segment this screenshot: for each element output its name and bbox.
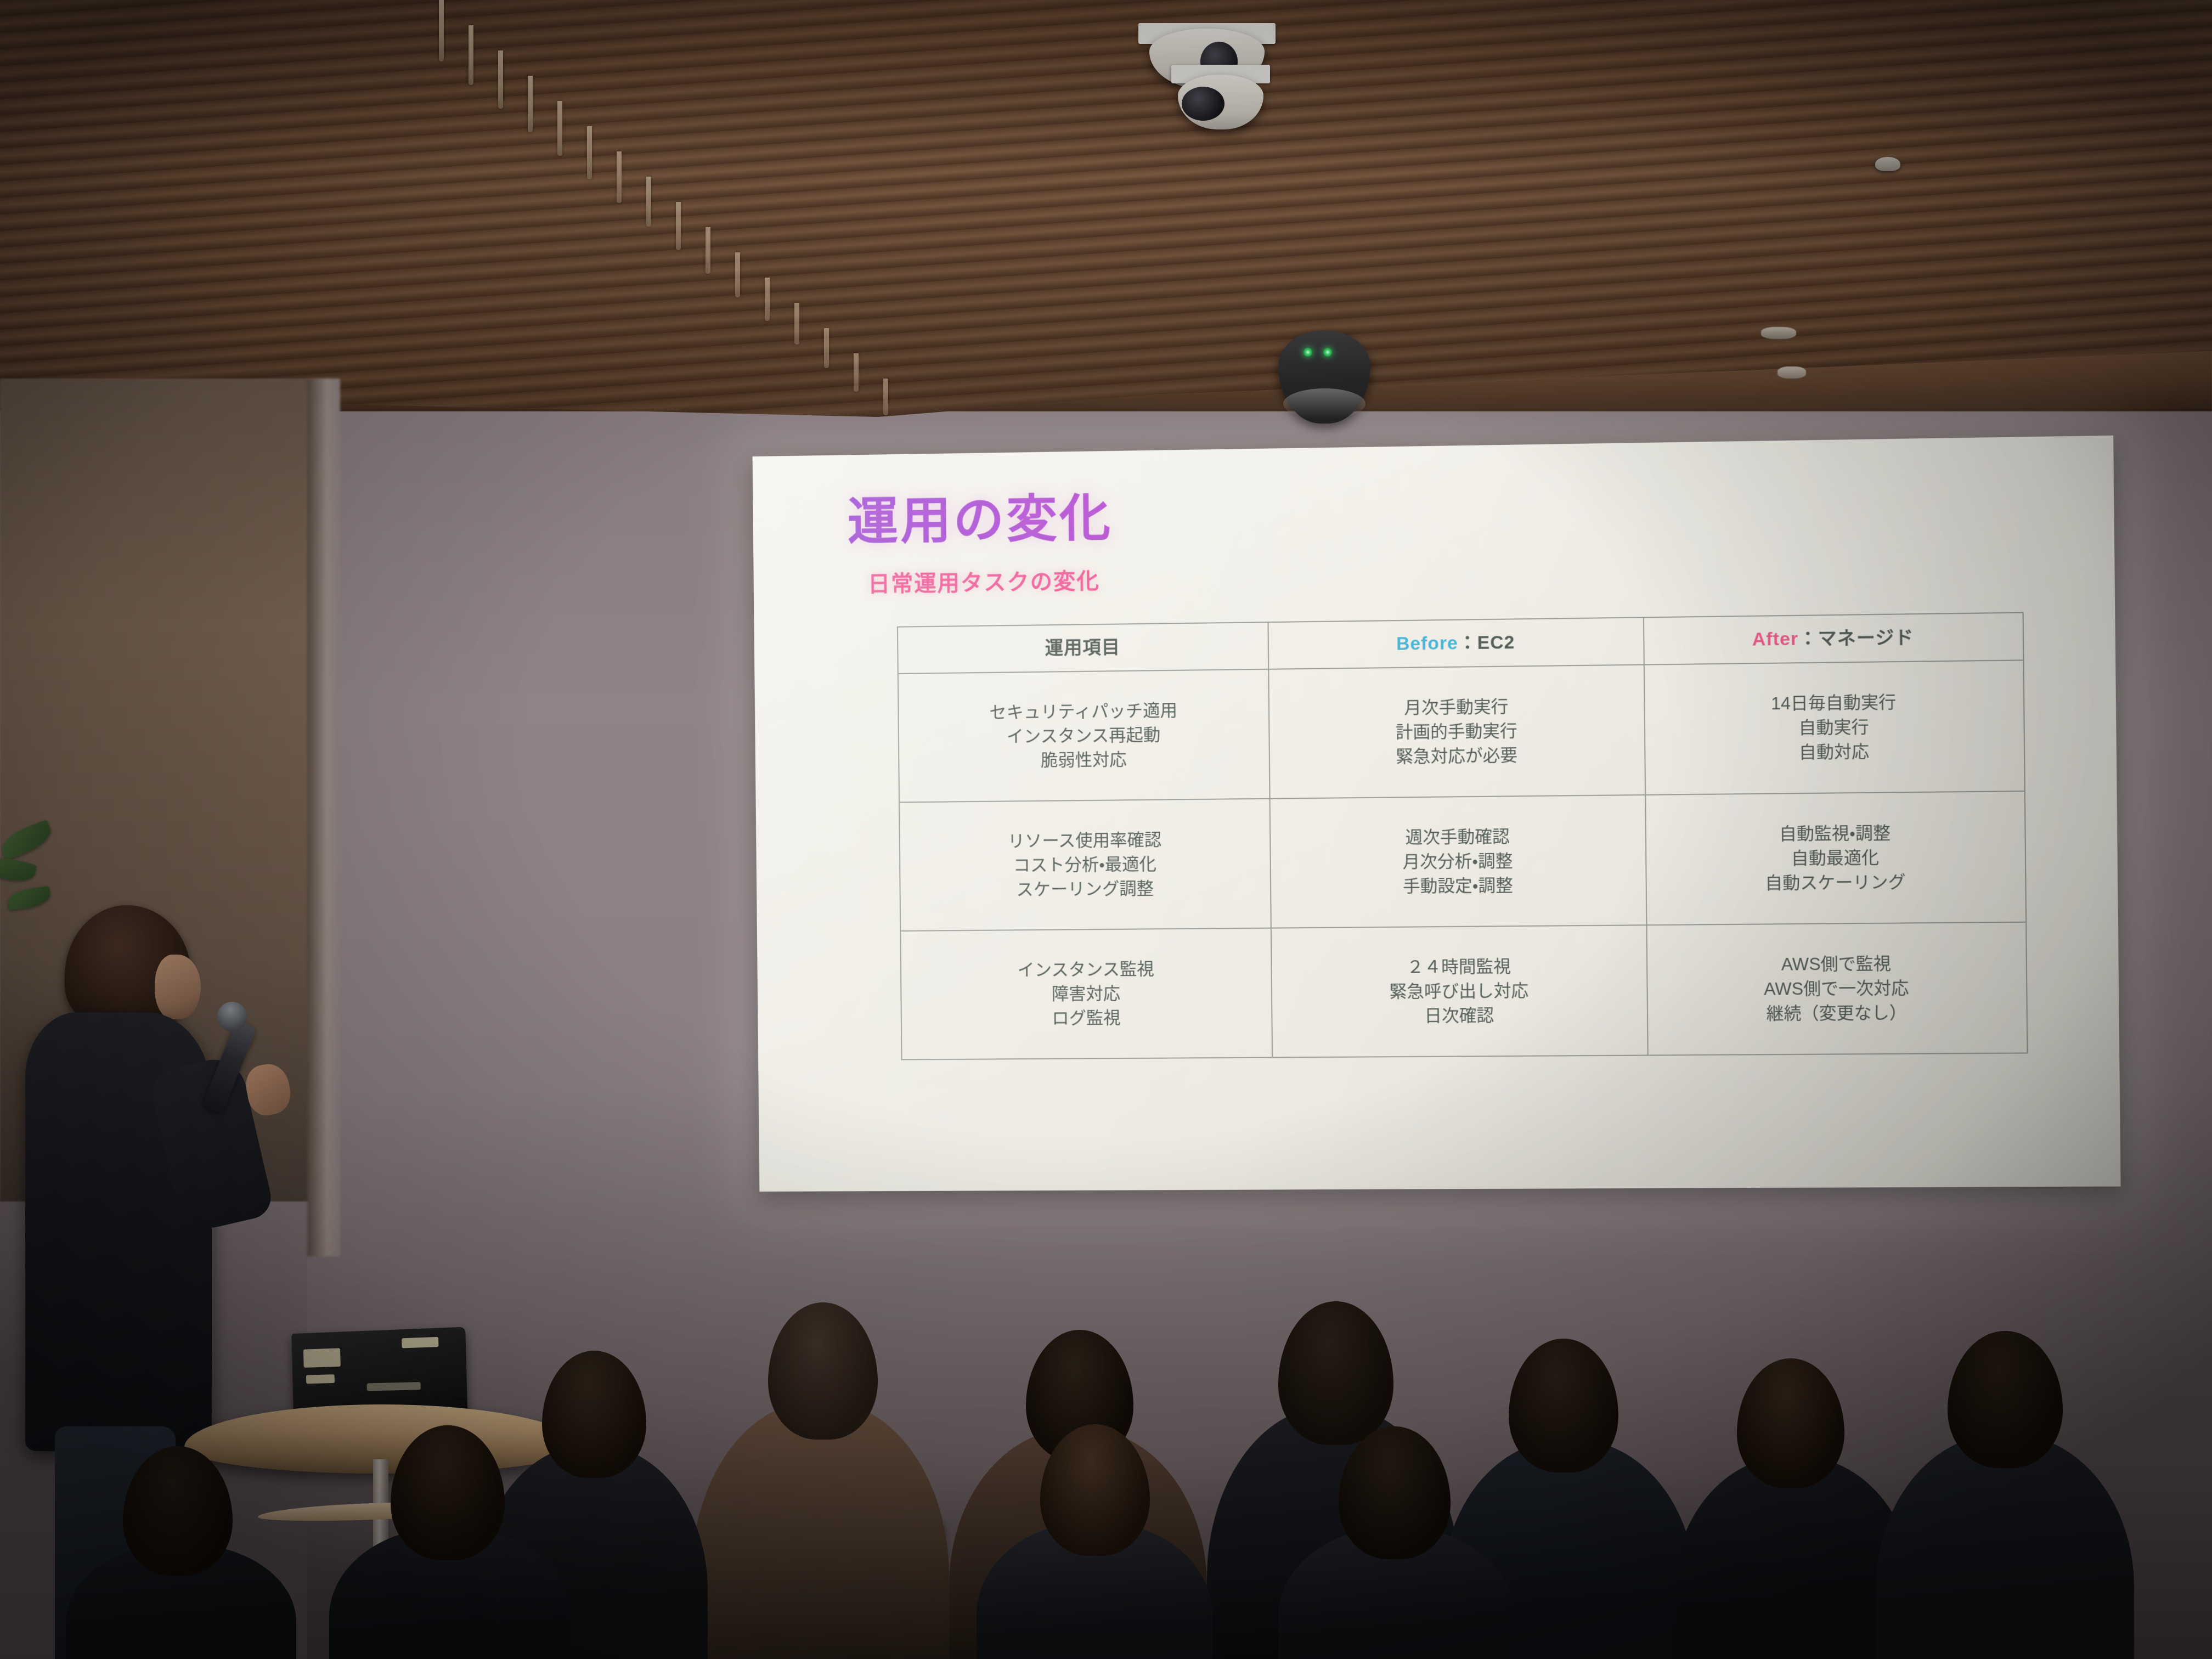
ceiling-speaker-icon — [1761, 327, 1796, 339]
table-cell-after: 自動監視・調整自動最適化自動スケーリング — [1645, 791, 2026, 925]
cell-line: 日次確認 — [1277, 1002, 1643, 1029]
before-accent-label: Before — [1396, 633, 1458, 654]
cell-line: 週次手動確認 — [1276, 823, 1641, 851]
cell-line: 継続（変更なし） — [1652, 1000, 2022, 1027]
cell-line: ログ監視 — [906, 1005, 1267, 1032]
cell-line: AWS側で監視 — [1652, 951, 2022, 978]
ceiling-slat-end — [646, 177, 651, 227]
before-separator: ： — [1458, 633, 1477, 653]
cell-line: セキュリティパッチ適用 — [903, 697, 1264, 726]
cell-line: インスタンス監視 — [906, 956, 1267, 983]
cell-line: 緊急呼び出し対応 — [1277, 978, 1642, 1005]
ceiling-slat-end — [765, 278, 770, 321]
ceiling-slat-end — [706, 227, 710, 274]
before-value-label: EC2 — [1477, 632, 1515, 653]
slide-subtitle: 日常運用タスクの変化 — [868, 550, 2060, 599]
projection-screen: 運用の変化 日常運用タスクの変化 運用項目 Before：EC2 After：マ… — [753, 436, 2121, 1192]
presenter-face — [155, 955, 201, 1019]
table-row: セキュリティパッチ適用インスタンス再起動脆弱性対応月次手動実行計画的手動実行緊急… — [898, 660, 2025, 802]
ceiling-speaker-icon-secondary — [1778, 366, 1806, 379]
table-cell-before: ２４時間監視緊急呼び出し対応日次確認 — [1271, 925, 1647, 1057]
table-header-item: 運用項目 — [898, 622, 1269, 674]
audience-member — [1876, 1264, 2134, 1659]
table-row: インスタンス監視障害対応ログ監視２４時間監視緊急呼び出し対応日次確認AWS側で監… — [900, 922, 2027, 1060]
ceiling-slat-end — [854, 353, 859, 392]
ceiling-slat-end — [587, 126, 592, 179]
cell-line: 緊急対応が必要 — [1274, 742, 1640, 771]
table-cell-after: AWS側で監視AWS側で一次対応継続（変更なし） — [1646, 922, 2027, 1056]
table-header-before: Before：EC2 — [1268, 618, 1644, 669]
cell-line: AWS側で一次対応 — [1652, 975, 2022, 1002]
cell-line: 自動実行 — [1650, 713, 2019, 742]
ceiling-sensor-icon — [1875, 157, 1900, 171]
ceiling-slat-end — [824, 328, 829, 368]
table-header-after: After：マネージド — [1644, 613, 2024, 665]
after-value-label: マネージド — [1818, 627, 1914, 649]
cell-line: コスト分析・最適化 — [905, 851, 1266, 879]
table-cell-before: 月次手動実行計画的手動実行緊急対応が必要 — [1269, 665, 1645, 799]
cell-line: 月次分析・調整 — [1276, 848, 1641, 875]
black-dome-camera — [1275, 327, 1374, 431]
after-accent-label: After — [1752, 628, 1798, 650]
potted-plant — [0, 806, 77, 971]
left-wall-corner — [307, 379, 340, 1256]
table-cell-after: 14日毎自動実行自動実行自動対応 — [1644, 660, 2024, 795]
cell-line: 14日毎自動実行 — [1649, 689, 2019, 717]
cell-line: 自動対応 — [1650, 738, 2019, 766]
ceiling-slat-end — [676, 202, 681, 250]
table-cell-item: セキュリティパッチ適用インスタンス再起動脆弱性対応 — [898, 669, 1270, 803]
audience-member — [691, 1176, 949, 1659]
ceiling-slat-end — [794, 303, 799, 345]
conference-room-photo: 運用の変化 日常運用タスクの変化 運用項目 Before：EC2 After：マ… — [0, 0, 2212, 1659]
table-cell-before: 週次手動確認月次分析・調整手動設定・調整 — [1270, 795, 1646, 928]
slide-title: 運用の変化 — [847, 477, 2059, 550]
cell-line: 自動スケーリング — [1651, 869, 2021, 897]
cell-line: 自動監視・調整 — [1651, 820, 2021, 848]
ceiling-slat-end — [735, 252, 740, 297]
after-separator: ： — [1798, 628, 1818, 649]
audience-member — [329, 1429, 571, 1659]
ceiling-slat-end — [883, 379, 888, 415]
ceiling-slat-end — [469, 25, 473, 85]
audience-member — [977, 1423, 1212, 1659]
ceiling-slat-end — [557, 101, 562, 156]
cell-line: 月次手動実行 — [1274, 693, 1639, 721]
ceiling-slat-end — [617, 151, 622, 203]
ceiling-slat-ends — [0, 0, 1152, 384]
comparison-table: 運用項目 Before：EC2 After：マネージド セキュリティパッチ適用イ… — [897, 612, 2028, 1060]
cell-line: インスタンス再起動 — [904, 722, 1265, 750]
ceiling-slat-end — [498, 50, 503, 109]
table-row: リソース使用率確認コスト分析・最適化スケーリング調整週次手動確認月次分析・調整手… — [899, 791, 2026, 931]
audience-member — [1278, 1429, 1514, 1659]
audience-member — [66, 1462, 296, 1659]
cell-line: 計画的手動実行 — [1274, 718, 1640, 746]
table-cell-item: インスタンス監視障害対応ログ監視 — [900, 928, 1272, 1060]
cell-line: リソース使用率確認 — [905, 827, 1266, 854]
white-dome-camera-lower — [1158, 65, 1284, 142]
cell-line: ２４時間監視 — [1277, 953, 1642, 980]
ceiling-slat-end — [528, 76, 533, 132]
cell-line: 脆弱性対応 — [904, 746, 1265, 774]
cell-line: 自動最適化 — [1651, 844, 2021, 872]
cell-line: 手動設定・調整 — [1276, 872, 1641, 900]
ceiling-slat-end — [439, 0, 444, 61]
cell-line: スケーリング調整 — [905, 876, 1266, 903]
table-cell-item: リソース使用率確認コスト分析・最適化スケーリング調整 — [899, 799, 1271, 931]
cell-line: 障害対応 — [906, 980, 1267, 1007]
header-item-label: 運用項目 — [1045, 637, 1120, 658]
